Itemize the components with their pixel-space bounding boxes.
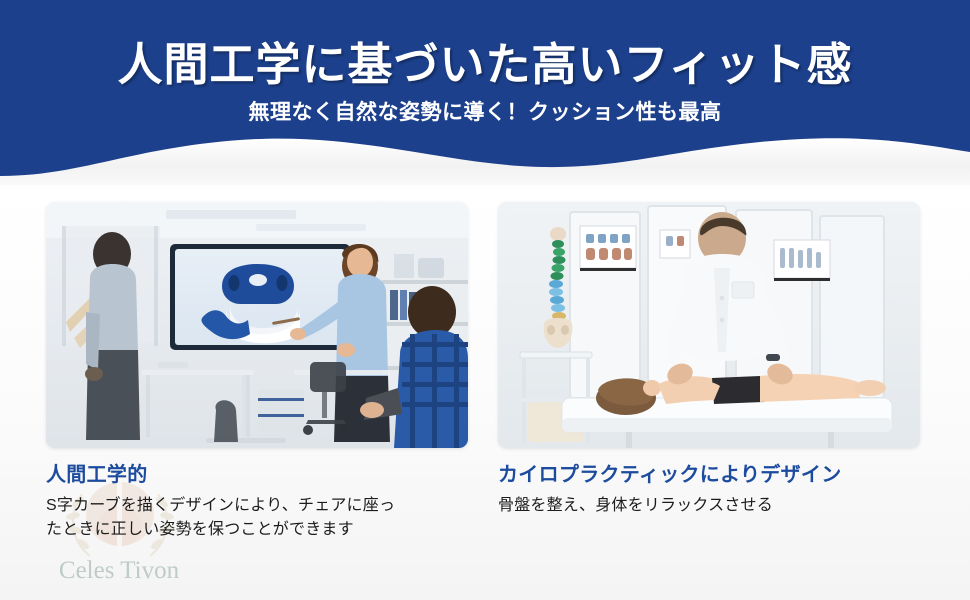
chiropractic-treatment-photo xyxy=(498,202,920,448)
feature-card-chiropractic: カイロプラクティックによりデザイン 骨盤を整え、身体をリラックスさせる xyxy=(498,202,920,518)
card-body-text: S字カーブを描くデザインにより、チェアに座っ たときに正しい姿勢を保つことができ… xyxy=(46,494,468,542)
chiropractic-illustration xyxy=(498,202,920,448)
card-body-line: S字カーブを描くデザインにより、チェアに座っ xyxy=(46,494,468,518)
card-body-line: 骨盤を整え、身体をリラックスさせる xyxy=(498,494,920,518)
card-heading: 人間工学的 xyxy=(46,464,468,486)
feature-cards: 人間工学的 S字カーブを描くデザインにより、チェアに座っ たときに正しい姿勢を保… xyxy=(0,0,970,600)
office-presentation-illustration xyxy=(46,202,468,448)
card-body-line: たときに正しい姿勢を保つことができます xyxy=(46,518,468,542)
feature-card-ergonomic: 人間工学的 S字カーブを描くデザインにより、チェアに座っ たときに正しい姿勢を保… xyxy=(46,202,468,542)
office-presentation-ergonomic-cushion-photo xyxy=(46,202,468,448)
card-heading: カイロプラクティックによりデザイン xyxy=(498,464,920,486)
product-feature-banner: 人間工学に基づいた高いフィット感 無理なく自然な姿勢に導く！クッション性も最高 xyxy=(0,0,970,600)
card-body-text: 骨盤を整え、身体をリラックスさせる xyxy=(498,494,920,518)
